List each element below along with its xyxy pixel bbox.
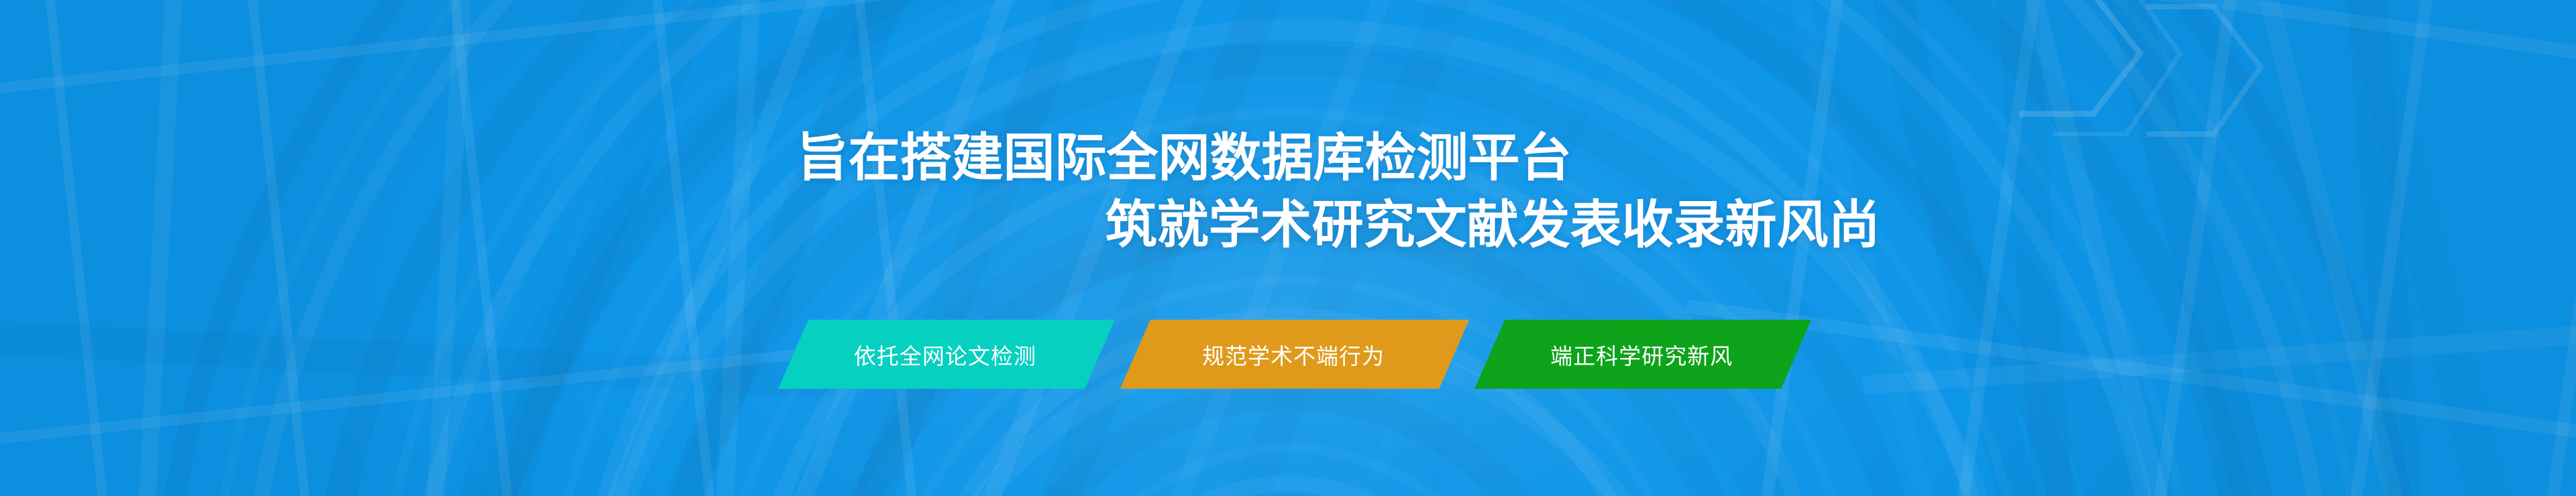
hero-banner: 旨在搭建国际全网数据库检测平台 筑就学术研究文献发表收录新风尚 依托全网论文检测… [0, 0, 2576, 496]
headline: 旨在搭建国际全网数据库检测平台 筑就学术研究文献发表收录新风尚 [0, 125, 2576, 259]
banner-content: 旨在搭建国际全网数据库检测平台 筑就学术研究文献发表收录新风尚 依托全网论文检测… [0, 0, 2576, 496]
headline-line-2: 筑就学术研究文献发表收录新风尚 [205, 192, 2576, 259]
ribbon-item-2[interactable]: 规范学术不端行为 [1120, 320, 1469, 389]
headline-line-1: 旨在搭建国际全网数据库检测平台 [0, 125, 2472, 192]
ribbon-item-1-label: 依托全网论文检测 [854, 338, 1036, 371]
ribbon-item-3-label: 端正科学研究新风 [1550, 338, 1733, 371]
feature-ribbon: 依托全网论文检测 规范学术不端行为 端正科学研究新风 [778, 320, 1811, 389]
ribbon-item-1[interactable]: 依托全网论文检测 [778, 320, 1115, 389]
ribbon-item-2-label: 规范学术不端行为 [1202, 338, 1385, 371]
ribbon-item-3[interactable]: 端正科学研究新风 [1474, 320, 1811, 389]
